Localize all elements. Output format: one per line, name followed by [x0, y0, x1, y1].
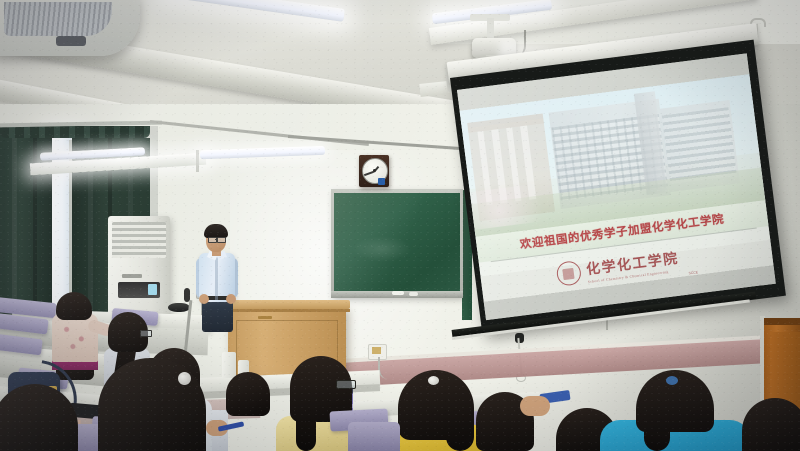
- curtain-fold: [33, 132, 37, 328]
- hair-clip: [428, 376, 439, 385]
- presenter-shirt-placket: [215, 254, 218, 300]
- wall-light-bracket: [196, 150, 199, 172]
- hair-clip: [666, 376, 678, 385]
- school-logo-text: 化学化工学院 School of Chemistry & Chemical En…: [585, 247, 680, 283]
- air-conditioner-grille: [112, 222, 166, 258]
- chalk-stick[interactable]: [392, 291, 404, 295]
- podium-notch: [258, 316, 272, 319]
- student-hand: [520, 396, 550, 416]
- white-container[interactable]: [222, 352, 236, 378]
- presenter-hand: [199, 294, 209, 304]
- podium-top: [224, 300, 350, 309]
- student-glasses: [140, 330, 152, 337]
- presentation-slide[interactable]: 欢迎祖国的优秀学子加盟化学化工学院 化学化工学院 School of Chemi…: [457, 53, 776, 320]
- air-conditioner-indicator: [148, 284, 157, 295]
- student-head: [98, 358, 206, 451]
- presenter-glasses-lens: [217, 237, 226, 243]
- desk-object[interactable]: [168, 303, 190, 312]
- student-glasses: [336, 380, 356, 389]
- standing-person-head: [56, 292, 92, 320]
- school-seal-inner: [563, 267, 575, 279]
- presenter-glasses-bridge: [215, 239, 217, 240]
- curtain-valance: [0, 126, 150, 138]
- lecture-hall-photograph: MITSUBISHI 欢迎祖国的优秀学子加盟化学化工学院: [0, 0, 800, 451]
- wall-outlet-socket: [372, 347, 381, 354]
- chair-back[interactable]: [348, 422, 400, 451]
- door-top-trim: [764, 318, 800, 325]
- projector-mount-arm: [487, 18, 494, 40]
- ceiling-unit-grille: [4, 2, 112, 36]
- clock-center-pin: [373, 169, 376, 172]
- air-conditioner-logo: [122, 274, 142, 278]
- presenter-hand: [226, 294, 236, 304]
- presenter-hair: [204, 224, 228, 238]
- chalkboard-smudge: [352, 236, 412, 262]
- wall-outlet-cable: [378, 357, 396, 379]
- school-logo-tag: SCCE: [688, 271, 698, 276]
- student-head: [226, 372, 270, 416]
- chalk-stick[interactable]: [409, 292, 418, 296]
- podium-top-edge: [224, 309, 350, 312]
- school-seal-icon: [555, 260, 582, 287]
- ceiling-unit-vent: [56, 36, 86, 46]
- hair-clip: [178, 372, 191, 385]
- clock-badge: [378, 178, 385, 185]
